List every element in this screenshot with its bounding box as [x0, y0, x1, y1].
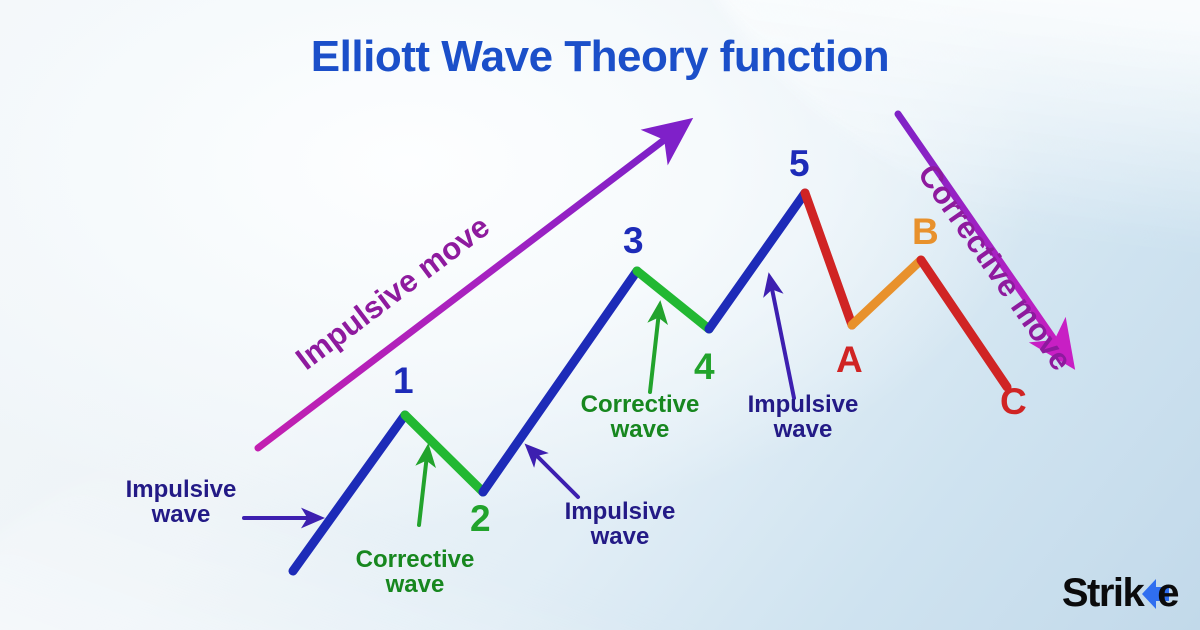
- wave-label-1: 1: [393, 362, 414, 400]
- wave-label-b: B: [912, 213, 939, 251]
- callout-corrective-wave-left: Corrective wave: [330, 548, 500, 598]
- callout-impulsive-wave-mid: Impulsive wave: [531, 500, 709, 550]
- brand-logo: Stri k e: [1062, 571, 1178, 616]
- wave-segment-2-3: [483, 271, 637, 492]
- wave-segment-4-5: [709, 193, 805, 329]
- brand-name-part1: Stri: [1062, 571, 1123, 616]
- wave-label-5: 5: [789, 145, 810, 183]
- callout-corrective-wave-mid: Corrective wave: [564, 393, 716, 443]
- callout-arrow-corrective-mid: [650, 312, 659, 392]
- callout-impulsive-wave-right: Impulsive wave: [727, 393, 879, 443]
- infographic-canvas: Elliott Wave Theory function: [0, 0, 1200, 630]
- brand-name-part2: k: [1123, 571, 1144, 616]
- wave-label-4: 4: [694, 348, 715, 386]
- callout-arrow-impulsive-mid: [533, 452, 578, 497]
- wave-segment-1-2: [405, 415, 483, 492]
- callout-impulsive-wave-left: Impulsive wave: [118, 478, 244, 528]
- wave-label-2: 2: [470, 500, 491, 538]
- wave-label-3: 3: [623, 222, 644, 260]
- wave-segment-5-A: [805, 193, 852, 325]
- wave-label-c: C: [1000, 383, 1027, 421]
- callout-arrow-corrective-left: [419, 455, 427, 525]
- wave-segment-3-4: [637, 271, 709, 329]
- callout-arrow-impulsive-right: [771, 284, 794, 398]
- brand-name-part3: e: [1157, 571, 1178, 616]
- wave-segment-A-B: [852, 260, 921, 325]
- wave-label-a: A: [836, 341, 863, 379]
